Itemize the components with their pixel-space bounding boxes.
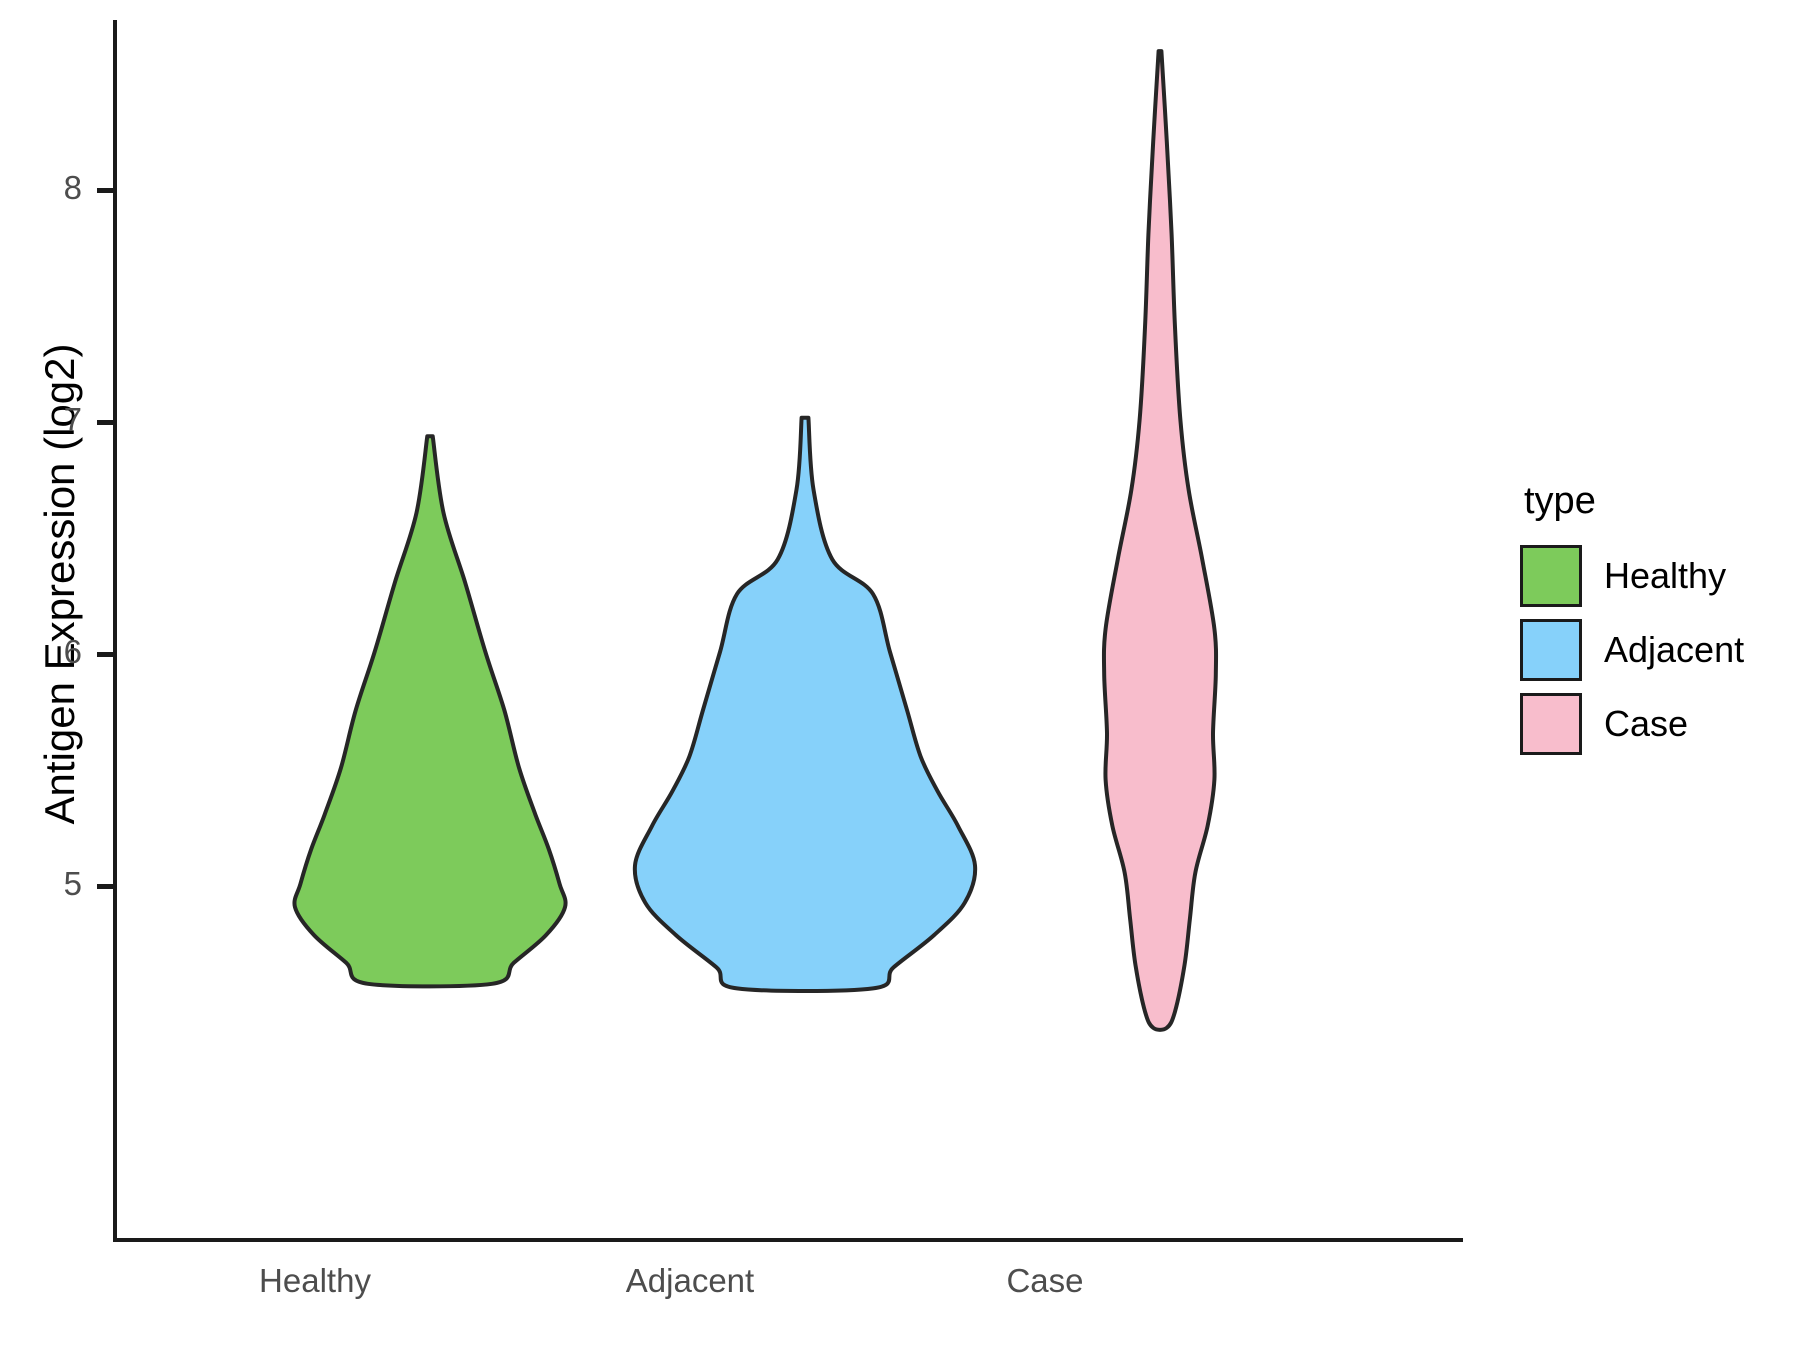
violin-case[interactable] (115, 20, 1460, 1240)
violin-plot-figure: Antigen Expression (log2) 8 7 6 5 Health… (0, 0, 1800, 1350)
legend-key-healthy (1520, 545, 1582, 607)
x-tick-label-adjacent: Adjacent (540, 1262, 840, 1300)
y-tick-mark-7 (97, 420, 115, 425)
legend-item-adjacent[interactable]: Adjacent (1520, 613, 1790, 687)
y-tick-mark-6 (97, 652, 115, 657)
y-tick-label-7: 7 (12, 401, 82, 439)
legend-label-case: Case (1604, 703, 1688, 745)
y-tick-label-6: 6 (12, 633, 82, 671)
legend-key-adjacent (1520, 619, 1582, 681)
y-axis-title: Antigen Expression (log2) (36, 224, 84, 944)
x-tick-label-healthy: Healthy (165, 1262, 465, 1300)
y-tick-mark-5 (97, 884, 115, 889)
y-tick-label-8: 8 (12, 169, 82, 207)
legend-item-case[interactable]: Case (1520, 687, 1790, 761)
y-tick-mark-8 (97, 188, 115, 193)
legend-label-healthy: Healthy (1604, 555, 1726, 597)
legend-key-case (1520, 693, 1582, 755)
legend-title: type (1524, 480, 1790, 523)
legend: type Healthy Adjacent Case (1520, 480, 1790, 761)
x-tick-label-case: Case (895, 1262, 1195, 1300)
plot-area: Antigen Expression (log2) 8 7 6 5 Health… (0, 0, 1480, 1350)
violin-shape-case (1104, 51, 1216, 1030)
legend-item-healthy[interactable]: Healthy (1520, 539, 1790, 613)
y-tick-label-5: 5 (12, 865, 82, 903)
legend-label-adjacent: Adjacent (1604, 629, 1744, 671)
